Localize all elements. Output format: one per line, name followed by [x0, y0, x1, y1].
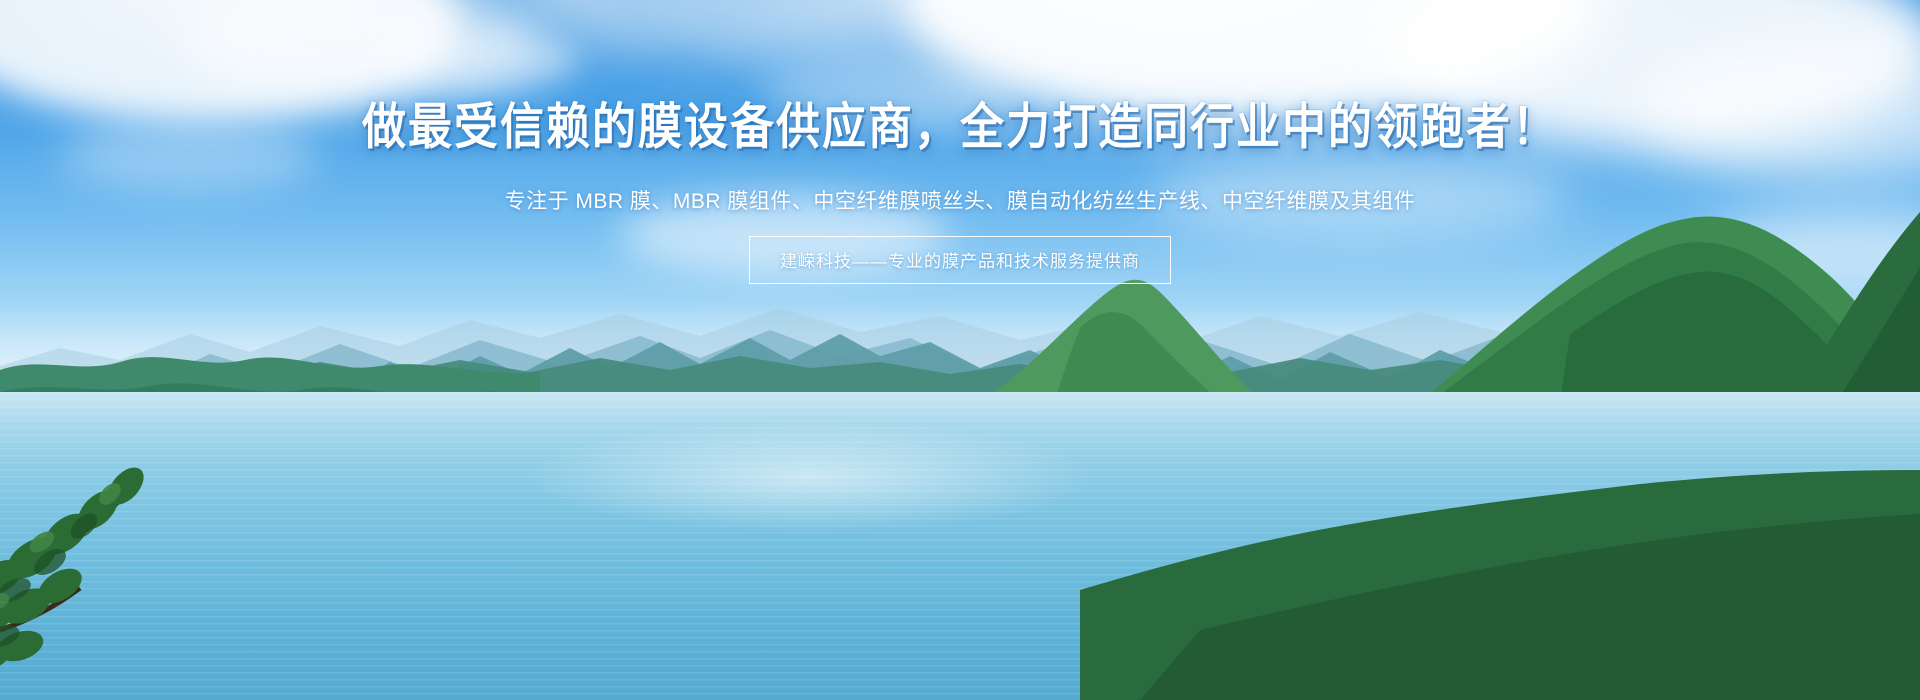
cloud-shape [60, 120, 320, 190]
hero-banner: 做最受信赖的膜设备供应商，全力打造同行业中的领跑者！ 专注于 MBR 膜、MBR… [0, 0, 1920, 700]
right-foreground-shore [1080, 470, 1920, 700]
foreground-tree-branch [0, 430, 220, 700]
cloud-shape [380, 30, 580, 90]
cloud-shape [760, 60, 1020, 130]
cloud-shape [620, 195, 950, 275]
water-glare [430, 402, 1190, 552]
